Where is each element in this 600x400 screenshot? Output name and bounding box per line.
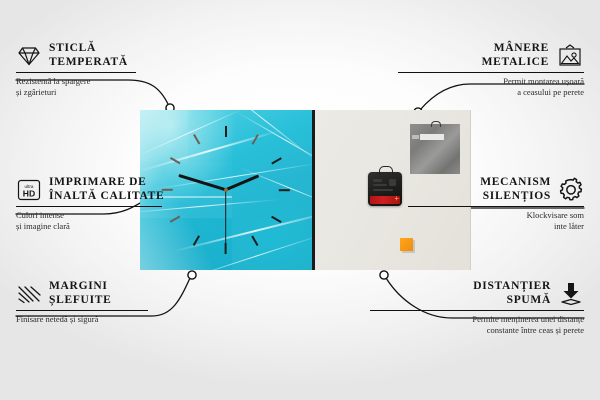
feature-sub-line1: Rezistentă la spargere xyxy=(16,76,196,87)
feature-imprimare-hd: ultra HD IMPRIMARE DE ÎNALTĂ CALITATE Cu… xyxy=(16,176,206,231)
feature-sub-line1: Culori intense xyxy=(16,210,206,221)
feature-manere-metalice: MÂNERE METALICE Permit montarea ușoară a… xyxy=(374,42,584,97)
feature-sub-line2: inte låter xyxy=(384,221,584,232)
feature-distantier-spuma: DISTANȚIER SPUMĂ Permite menținerea unei… xyxy=(344,280,584,335)
feature-title-line1: MECANISM xyxy=(480,176,551,190)
metal-hanger xyxy=(410,124,460,174)
diamond-icon xyxy=(16,46,42,66)
feature-divider xyxy=(370,310,584,311)
feature-title-line2: SILENȚIOS xyxy=(480,190,551,204)
feature-sub-line2: a ceasului pe perete xyxy=(374,87,584,98)
feature-title-line1: MÂNERE xyxy=(482,42,549,56)
feature-divider xyxy=(408,206,584,207)
feature-margini-slefuite: MARGINI ȘLEFUITE Finisare netedă și sigu… xyxy=(16,280,196,325)
feature-title-line2: TEMPERATĂ xyxy=(49,56,128,70)
picture-hanger-icon xyxy=(556,44,584,68)
feature-sub-line1: Permite menținerea unei distanțe xyxy=(344,314,584,325)
gear-icon xyxy=(558,177,584,203)
mechanism-detail xyxy=(373,179,382,182)
feature-title-line2: ÎNALTĂ CALITATE xyxy=(49,190,164,204)
feature-sub-line1: Finisare netedă și sigură xyxy=(16,314,196,325)
feature-title-line2: ȘLEFUITE xyxy=(49,294,111,308)
feature-title-line1: DISTANȚIER xyxy=(473,280,551,294)
feature-sticla-temperata: STICLĂ TEMPERATĂ Rezistentă la spargere … xyxy=(16,42,196,97)
feature-title-line1: STICLĂ xyxy=(49,42,128,56)
feature-title-line2: SPUMĂ xyxy=(473,294,551,308)
feature-sub-line2: și zgârieturi xyxy=(16,87,196,98)
badge-large-text: HD xyxy=(23,188,35,198)
infographic-canvas: STICLĂ TEMPERATĂ Rezistentă la spargere … xyxy=(0,0,600,400)
feature-sub-line2: și imagine clară xyxy=(16,221,206,232)
clock-center-pin xyxy=(224,188,228,192)
feature-divider xyxy=(16,310,148,311)
feature-divider xyxy=(16,206,162,207)
feature-sub-line1: Permit montarea ușoară xyxy=(374,76,584,87)
hanger-slot xyxy=(420,134,444,140)
feature-sub-line1: Klockvisare som xyxy=(384,210,584,221)
ultra-hd-badge-icon: ultra HD xyxy=(16,179,42,201)
polished-edges-icon xyxy=(16,284,42,304)
feature-divider xyxy=(16,72,136,73)
feature-sub-line2: constante între ceas și perete xyxy=(344,325,584,336)
feature-title-line2: METALICE xyxy=(482,56,549,70)
foam-spacer xyxy=(400,238,413,251)
feature-divider xyxy=(398,72,584,73)
mechanism-loop xyxy=(379,166,393,175)
foam-spacer-arrow-icon xyxy=(558,281,584,307)
feature-title-line1: MARGINI xyxy=(49,280,111,294)
feature-mecanism-silentios: MECANISM SILENȚIOS Klockvisare som inte … xyxy=(384,176,584,231)
feature-title-line1: IMPRIMARE DE xyxy=(49,176,164,190)
hanger-hook-icon xyxy=(431,121,441,127)
